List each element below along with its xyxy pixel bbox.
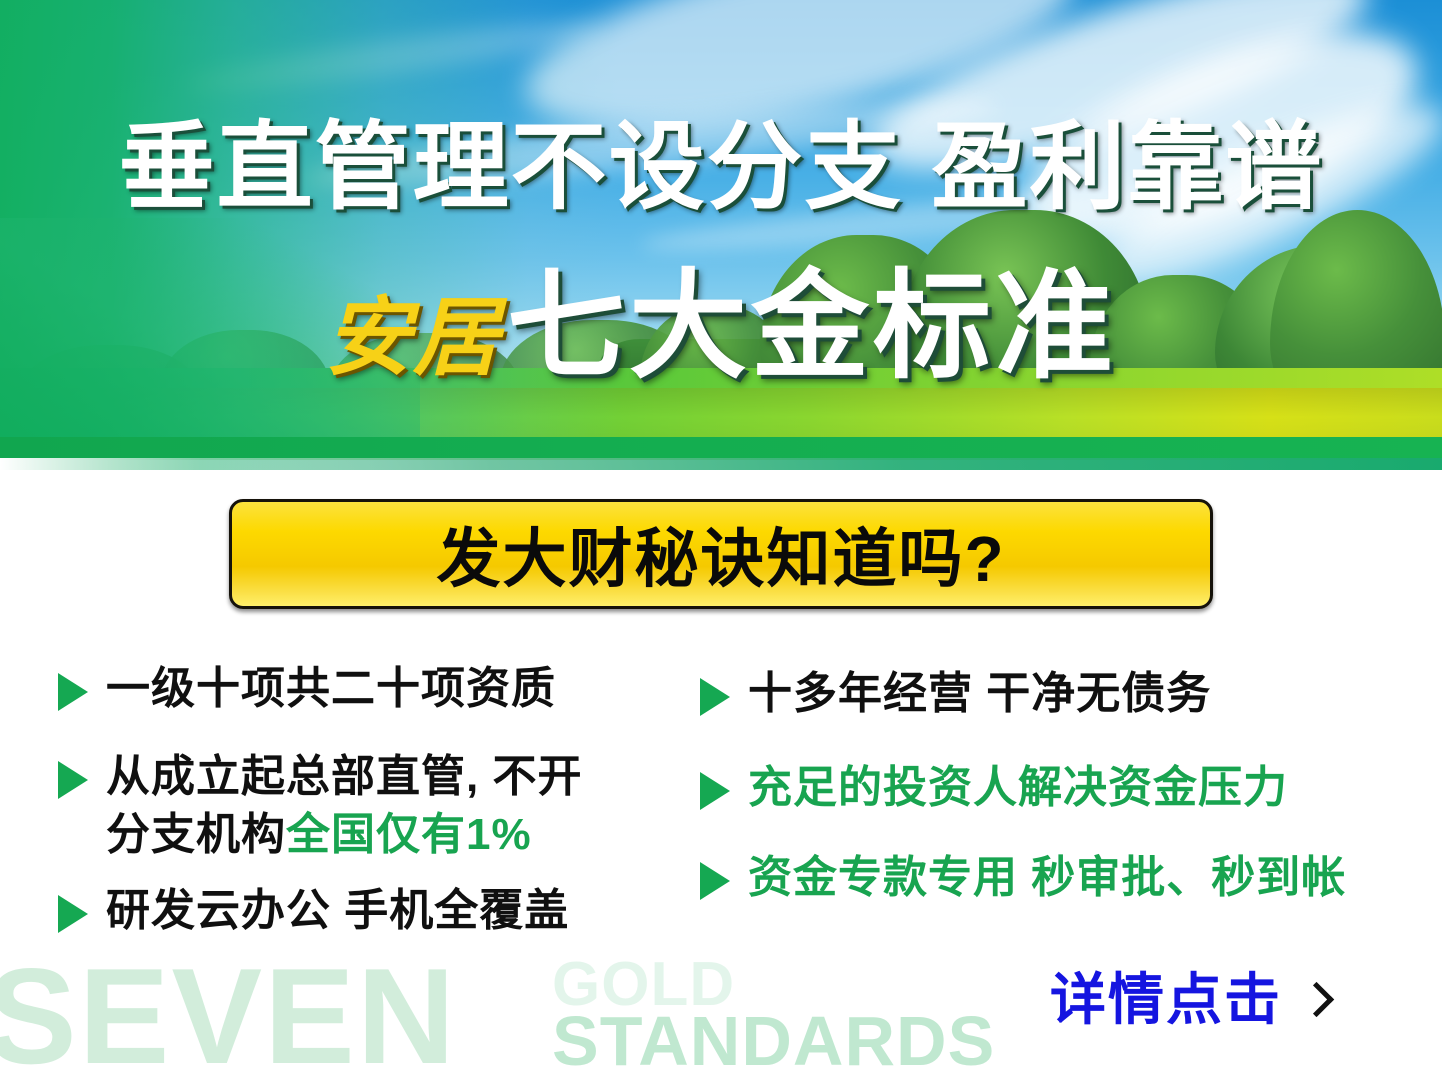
features-column-right: 十多年经营 干净无债务 充足的投资人解决资金压力 资金专款专用 秒审批、秒到帐 (700, 665, 1420, 933)
hero-subheadline-main: 七大金标准 (507, 261, 1117, 393)
play-triangle-icon (58, 761, 88, 799)
feature-label: 一级十项共二十项资质 (106, 660, 556, 718)
detail-link[interactable]: 详情点击 (1050, 972, 1329, 1028)
feature-item: 十多年经营 干净无债务 (700, 665, 1420, 723)
feature-line-2-plain: 分支机构 (106, 810, 286, 859)
hero-subheadline-accent: 安居 (325, 290, 501, 386)
features-column-left: 一级十项共二十项资质 从成立起总部直管, 不开 分支机构全国仅有1% 研发云办公… (58, 660, 698, 966)
feature-item: 从成立起总部直管, 不开 分支机构全国仅有1% (58, 748, 698, 864)
cta-banner-label: 发大财秘诀知道吗? (436, 508, 1005, 600)
features-section: 一级十项共二十项资质 从成立起总部直管, 不开 分支机构全国仅有1% 研发云办公… (0, 660, 1442, 1000)
feature-item: 一级十项共二十项资质 (58, 660, 698, 718)
feature-line-1: 从成立起总部直管, 不开 (106, 752, 582, 801)
play-triangle-icon (700, 678, 730, 716)
feature-label: 研发云办公 手机全覆盖 (106, 882, 569, 940)
play-triangle-icon (58, 673, 88, 711)
play-triangle-icon (700, 772, 730, 810)
feature-label: 十多年经营 干净无债务 (748, 665, 1211, 723)
hero-banner: 垂直管理不设分支 盈利靠谱 安居七大金标准 (0, 0, 1442, 470)
detail-link-label: 详情点击 (1050, 972, 1282, 1028)
feature-item: 充足的投资人解决资金压力 (700, 759, 1420, 817)
hero-headline: 垂直管理不设分支 盈利靠谱 (0, 118, 1442, 219)
hero-bottom-fade (0, 458, 1442, 470)
hero-bottom-band (0, 437, 1442, 458)
feature-label: 充足的投资人解决资金压力 (748, 759, 1288, 817)
feature-label: 从成立起总部直管, 不开 分支机构全国仅有1% (106, 748, 582, 864)
play-triangle-icon (700, 862, 730, 900)
hero-subheadline: 安居七大金标准 (0, 268, 1442, 386)
watermark-standards: STANDARDS (552, 1006, 995, 1066)
play-triangle-icon (58, 895, 88, 933)
chevron-right-icon (1299, 981, 1334, 1016)
feature-item: 资金专款专用 秒审批、秒到帐 (700, 849, 1420, 907)
cta-banner[interactable]: 发大财秘诀知道吗? (229, 499, 1213, 609)
promo-page: 垂直管理不设分支 盈利靠谱 安居七大金标准 发大财秘诀知道吗? 一级十项共二十项… (0, 0, 1442, 1066)
feature-line-2-highlight: 全国仅有1% (286, 810, 532, 859)
feature-label: 资金专款专用 秒审批、秒到帐 (748, 849, 1346, 907)
feature-item: 研发云办公 手机全覆盖 (58, 882, 698, 940)
